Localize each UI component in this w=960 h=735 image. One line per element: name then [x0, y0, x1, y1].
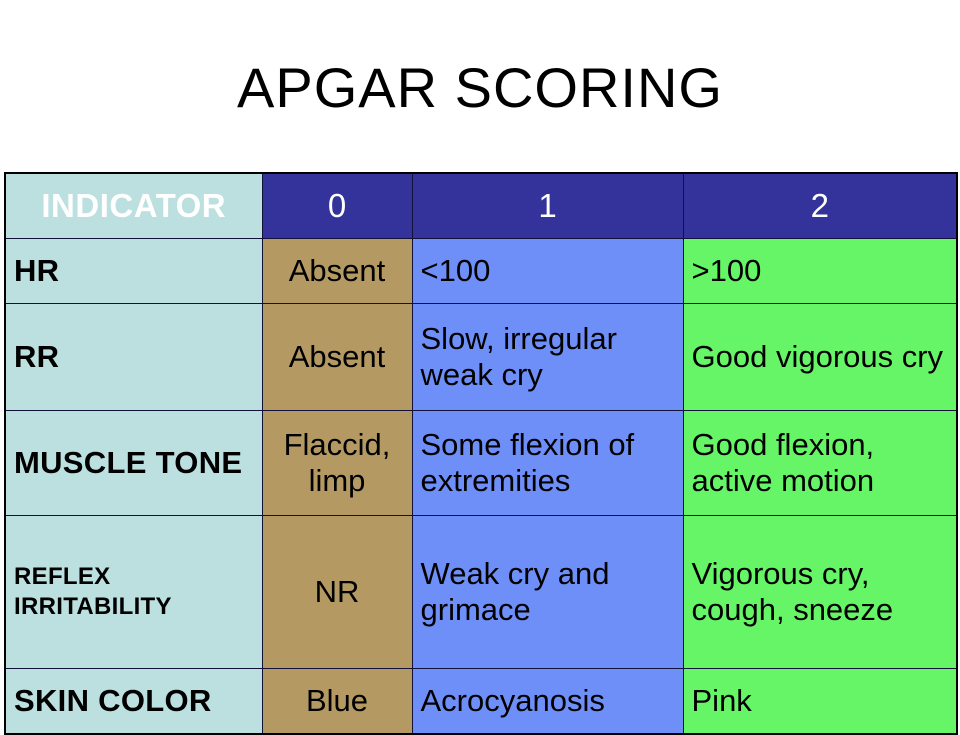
cell-muscle-tone-score-1: Some flexion of extremities [412, 411, 683, 516]
row-label-hr: HR [5, 239, 262, 304]
table-row: REFLEX IRRITABILITY NR Weak cry and grim… [5, 516, 957, 669]
cell-muscle-tone-score-0: Flaccid, limp [262, 411, 412, 516]
cell-skin-color-score-1: Acrocyanosis [412, 669, 683, 735]
column-header-score-2: 2 [683, 173, 957, 239]
cell-hr-score-2: >100 [683, 239, 957, 304]
column-header-score-1: 1 [412, 173, 683, 239]
row-label-rr: RR [5, 304, 262, 411]
page-title: APGAR SCORING [0, 56, 960, 120]
apgar-scoring-table: INDICATOR 0 1 2 HR Absent <100 >100 RR A… [4, 172, 958, 735]
cell-hr-score-1: <100 [412, 239, 683, 304]
row-label-muscle-tone: MUSCLE TONE [5, 411, 262, 516]
cell-hr-score-0: Absent [262, 239, 412, 304]
table-row: HR Absent <100 >100 [5, 239, 957, 304]
table-row: SKIN COLOR Blue Acrocyanosis Pink [5, 669, 957, 735]
cell-muscle-tone-score-2: Good flexion, active motion [683, 411, 957, 516]
apgar-table-container: INDICATOR 0 1 2 HR Absent <100 >100 RR A… [4, 172, 956, 735]
column-header-score-0: 0 [262, 173, 412, 239]
table-row: RR Absent Slow, irregular weak cry Good … [5, 304, 957, 411]
slide-canvas: APGAR SCORING INDICATOR 0 1 2 HR Absent [0, 0, 960, 720]
cell-rr-score-0: Absent [262, 304, 412, 411]
cell-skin-color-score-0: Blue [262, 669, 412, 735]
cell-reflex-irritability-score-0: NR [262, 516, 412, 669]
cell-reflex-irritability-score-1: Weak cry and grimace [412, 516, 683, 669]
table-row: MUSCLE TONE Flaccid, limp Some flexion o… [5, 411, 957, 516]
column-header-indicator: INDICATOR [5, 173, 262, 239]
cell-reflex-irritability-score-2: Vigorous cry, cough, sneeze [683, 516, 957, 669]
cell-rr-score-1: Slow, irregular weak cry [412, 304, 683, 411]
cell-skin-color-score-2: Pink [683, 669, 957, 735]
row-label-skin-color: SKIN COLOR [5, 669, 262, 735]
cell-rr-score-2: Good vigorous cry [683, 304, 957, 411]
row-label-reflex-irritability: REFLEX IRRITABILITY [5, 516, 262, 669]
table-header-row: INDICATOR 0 1 2 [5, 173, 957, 239]
